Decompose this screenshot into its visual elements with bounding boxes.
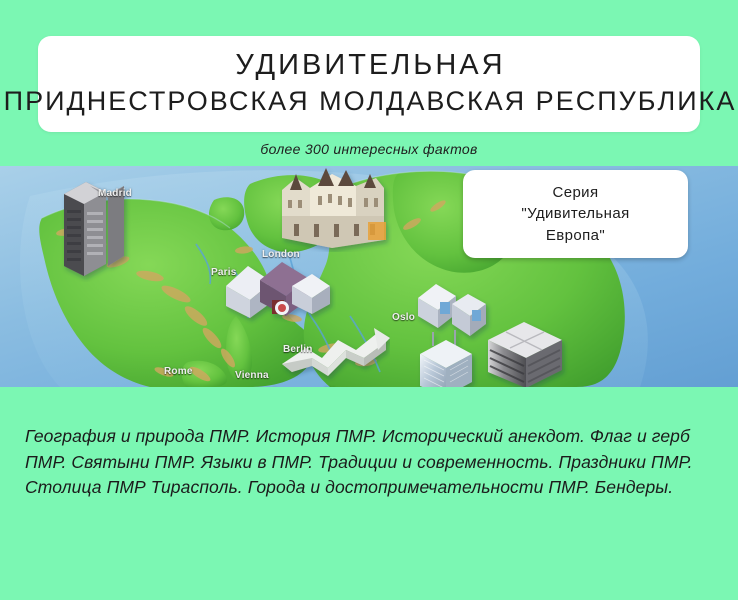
stacked-tower-icon — [478, 320, 574, 387]
description-text: География и природа ПМР. История ПМР. Ис… — [25, 424, 715, 501]
houses-cluster-icon — [220, 252, 336, 328]
page-title-line-2: ПРИДНЕСТРОВСКАЯ МОЛДАВСКАЯ РЕСПУБЛИКА — [2, 84, 737, 119]
page-title-line-1: УДИВИТЕЛЬНАЯ — [232, 49, 505, 82]
growth-arrow-icon — [278, 324, 390, 387]
subtitle: более 300 интересных фактов — [0, 141, 738, 157]
series-label: Серия "Удивительная Европа" — [521, 182, 629, 246]
title-card: УДИВИТЕЛЬНАЯ ПРИДНЕСТРОВСКАЯ МОЛДАВСКАЯ … — [38, 36, 700, 132]
office-tower-madrid-icon — [50, 172, 132, 282]
series-badge: Серия "Удивительная Европа" — [463, 170, 688, 258]
poster-root: УДИВИТЕЛЬНАЯ ПРИДНЕСТРОВСКАЯ МОЛДАВСКАЯ … — [0, 0, 738, 600]
castle-london-icon — [272, 166, 392, 252]
